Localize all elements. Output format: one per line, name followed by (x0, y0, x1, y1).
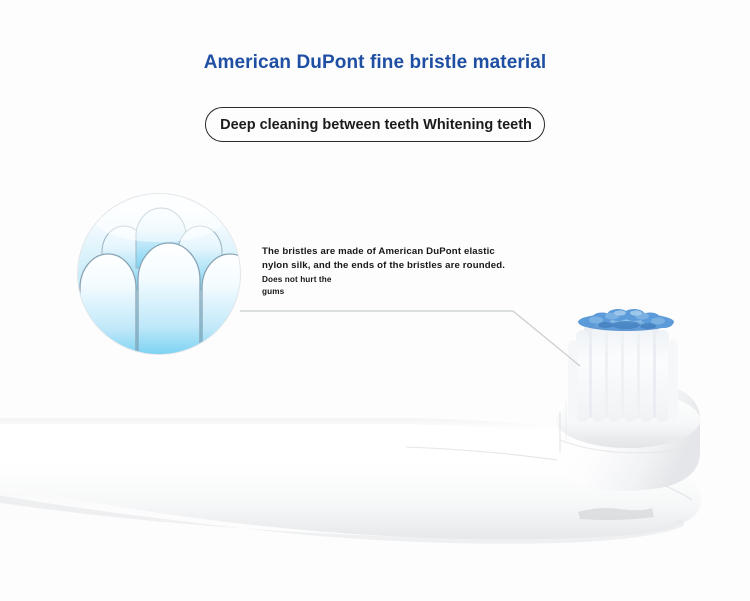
brush-bristles (568, 316, 678, 422)
subtitle-label: Deep cleaning between teeth Whitening te… (206, 108, 546, 143)
bristle-description: The bristles are made of American DuPont… (262, 245, 510, 297)
product-feature-image: American DuPont fine bristle material De… (0, 0, 750, 601)
bristle-description-sub: Does not hurt the gums (262, 274, 352, 297)
subtitle-pill: Deep cleaning between teeth Whitening te… (205, 107, 545, 142)
blue-bristle-tips (578, 309, 674, 331)
bristle-tip-magnifier (78, 194, 240, 354)
bristle-description-main: The bristles are made of American DuPont… (262, 245, 510, 272)
rounded-bristle-domes (78, 194, 240, 354)
page-title: American DuPont fine bristle material (0, 52, 750, 74)
